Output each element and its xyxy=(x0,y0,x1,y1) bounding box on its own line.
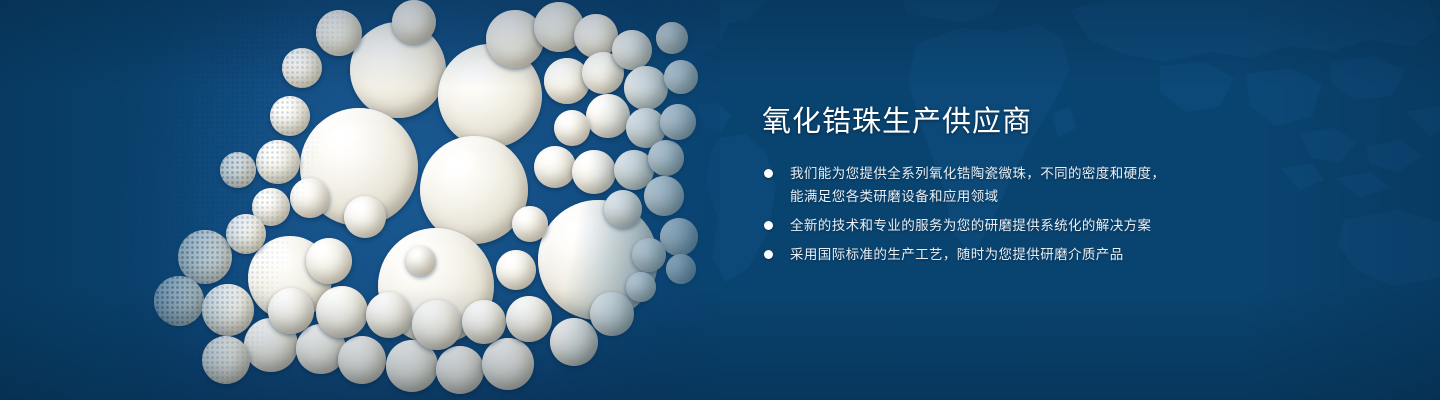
bullet-line: 我们能为您提供全系列氧化锆陶瓷微珠，不同的密度和硬度， xyxy=(790,162,1322,185)
bullet-line: 全新的技术和专业的服务为您的研磨提供系统化的解决方案 xyxy=(790,214,1322,237)
bullet-line: 采用国际标准的生产工艺，随时为您提供研磨介质产品 xyxy=(790,243,1322,266)
list-item: 我们能为您提供全系列氧化锆陶瓷微珠，不同的密度和硬度， 能满足您各类研磨设备和应… xyxy=(764,162,1322,208)
bead-cluster xyxy=(120,0,720,400)
bullet-line: 能满足您各类研磨设备和应用领域 xyxy=(790,185,1322,208)
hero-banner: 氧化锆珠生产供应商 我们能为您提供全系列氧化锆陶瓷微珠，不同的密度和硬度， 能满… xyxy=(0,0,1440,400)
bullet-dot-icon xyxy=(764,250,773,259)
bullet-dot-icon xyxy=(764,169,773,178)
banner-content: 氧化锆珠生产供应商 我们能为您提供全系列氧化锆陶瓷微珠，不同的密度和硬度， 能满… xyxy=(762,104,1322,266)
list-item: 全新的技术和专业的服务为您的研磨提供系统化的解决方案 xyxy=(764,214,1322,237)
banner-feature-list: 我们能为您提供全系列氧化锆陶瓷微珠，不同的密度和硬度， 能满足您各类研磨设备和应… xyxy=(764,162,1322,266)
bullet-dot-icon xyxy=(764,221,773,230)
list-item: 采用国际标准的生产工艺，随时为您提供研磨介质产品 xyxy=(764,243,1322,266)
banner-headline: 氧化锆珠生产供应商 xyxy=(762,104,1322,140)
zirconia-beads-photo xyxy=(120,0,720,400)
